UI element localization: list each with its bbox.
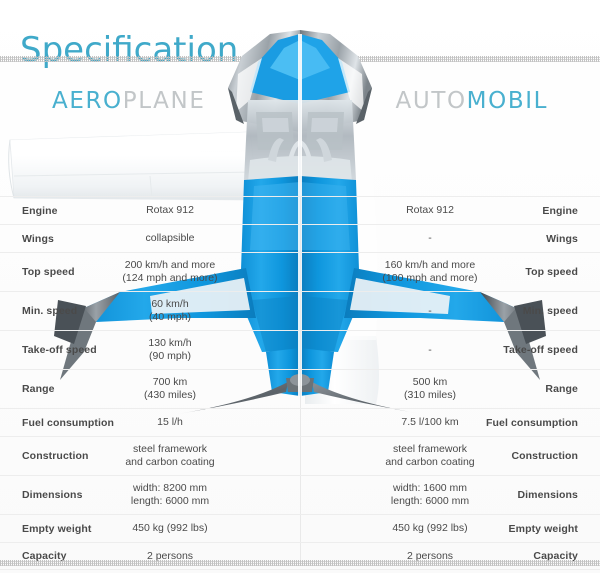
aeroplane-value: 130 km/h(90 mph) bbox=[100, 331, 240, 369]
aeroplane-value: 15 l/h bbox=[100, 409, 240, 436]
row-label-right: Min. speed bbox=[468, 292, 578, 330]
table-row: Range700 km(430 miles)500 km(310 miles)R… bbox=[0, 369, 600, 408]
row-label-right: Engine bbox=[468, 197, 578, 224]
column-heading-automobil: AUTOMOBIL bbox=[396, 88, 548, 114]
table-row: Top speed200 km/h and more(124 mph and m… bbox=[0, 252, 600, 291]
aeroplane-value: collapsible bbox=[100, 225, 240, 252]
automobil-heading-accent: MOBIL bbox=[467, 88, 548, 114]
row-label-right: Construction bbox=[468, 437, 578, 475]
table-row: EngineRotax 912Rotax 912Engine bbox=[0, 196, 600, 224]
left-wing bbox=[9, 132, 258, 200]
table-row: Dimensionswidth: 8200 mmlength: 6000 mmw… bbox=[0, 475, 600, 514]
cockpit-canopy bbox=[244, 100, 356, 182]
row-label-right: Dimensions bbox=[468, 476, 578, 514]
table-row: Constructionsteel frameworkand carbon co… bbox=[0, 436, 600, 475]
nose-section bbox=[228, 30, 372, 132]
row-label-right: Range bbox=[468, 370, 578, 408]
aeroplane-value: 60 km/h(40 mph) bbox=[100, 292, 240, 330]
divider-hatched-bottom bbox=[0, 560, 600, 566]
table-row: Fuel consumption15 l/h7.5 l/100 kmFuel c… bbox=[0, 408, 600, 436]
table-row: Wingscollapsible-Wings bbox=[0, 224, 600, 252]
row-label-right: Take-off speed bbox=[468, 331, 578, 369]
aeroplane-value: steel frameworkand carbon coating bbox=[100, 437, 240, 475]
row-label-right: Fuel consumption bbox=[468, 409, 578, 436]
divider-hatched-top bbox=[0, 56, 600, 62]
aeroplane-value: width: 8200 mmlength: 6000 mm bbox=[100, 476, 240, 514]
aeroplane-value: 700 km(430 miles) bbox=[100, 370, 240, 408]
aeroplane-value: Rotax 912 bbox=[100, 197, 240, 224]
column-heading-aeroplane: AEROPLANE bbox=[52, 88, 205, 114]
specification-table: EngineRotax 912Rotax 912EngineWingscolla… bbox=[0, 196, 600, 570]
row-label-right: Empty weight bbox=[468, 515, 578, 542]
aeroplane-value: 450 kg (992 lbs) bbox=[100, 515, 240, 542]
aeroplane-heading-accent: AERO bbox=[52, 88, 123, 114]
aeroplane-value: 200 km/h and more(124 mph and more) bbox=[100, 253, 240, 291]
aeroplane-heading-gray: PLANE bbox=[123, 88, 206, 114]
row-label-right: Wings bbox=[468, 225, 578, 252]
row-label-right: Top speed bbox=[468, 253, 578, 291]
automobil-heading-gray: AUTO bbox=[396, 88, 467, 114]
table-row: Empty weight450 kg (992 lbs)450 kg (992 … bbox=[0, 514, 600, 542]
table-row: Take-off speed130 km/h(90 mph)-Take-off … bbox=[0, 330, 600, 369]
page-title: Specification bbox=[20, 29, 238, 71]
specification-page: Specification AEROPLANE AUTOMOBIL bbox=[0, 0, 600, 573]
table-row: Min. speed60 km/h(40 mph)-Min. speed bbox=[0, 291, 600, 330]
